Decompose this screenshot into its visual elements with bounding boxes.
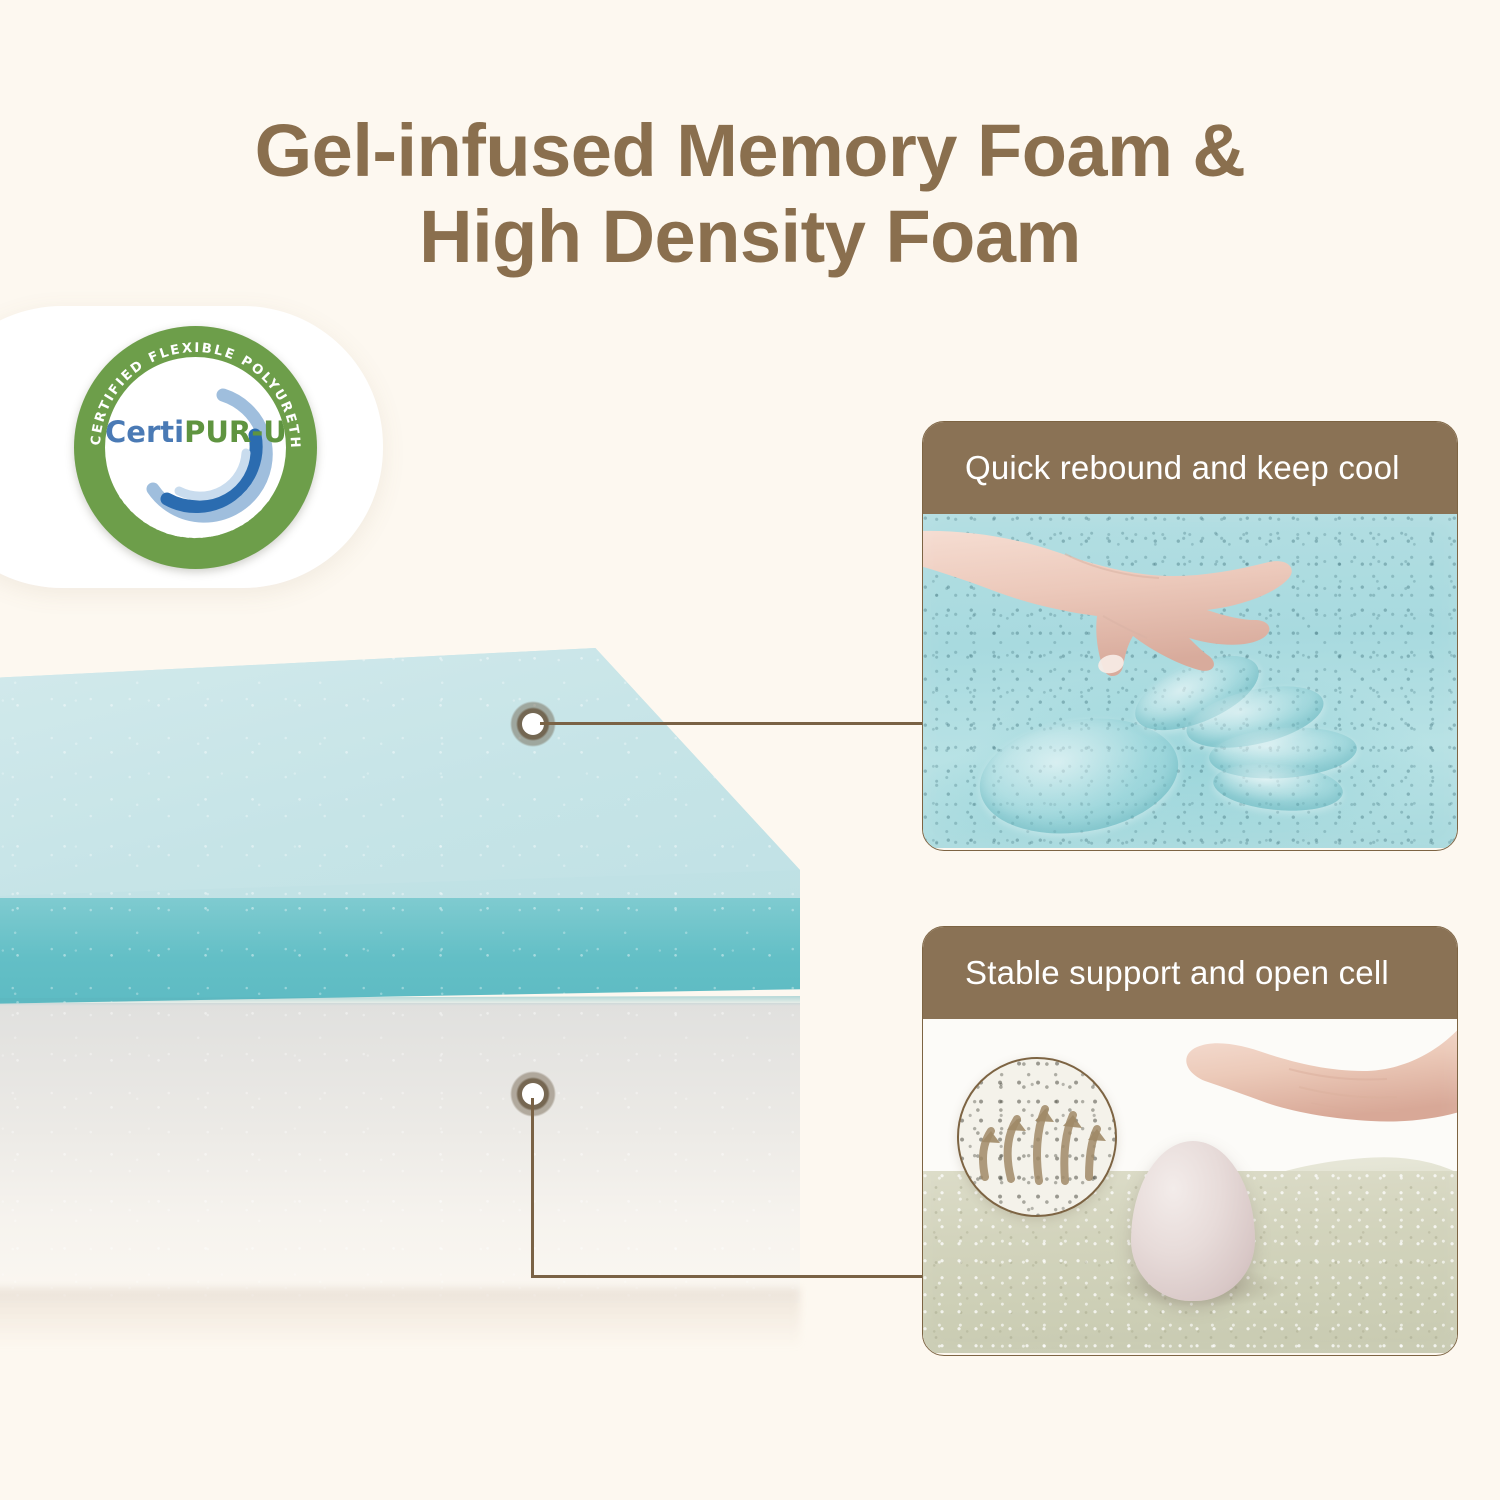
finger-illustration <box>1139 1019 1457 1163</box>
open-cell-airflow-inset <box>957 1057 1117 1217</box>
hand-illustration <box>923 520 1339 695</box>
connector-line-top <box>540 722 924 725</box>
callout-photo-gel-foam-handprint <box>923 514 1457 848</box>
high-density-foam-layer <box>0 1003 800 1303</box>
foam-product-illustration <box>0 648 830 1338</box>
foam-ground-shadow <box>0 1288 800 1348</box>
certipur-logo-part2: PUR-US <box>184 415 286 449</box>
callout-card-heading-quick-rebound: Quick rebound and keep cool <box>923 422 1457 514</box>
certipur-logo-text: CertiPUR-US® <box>105 415 286 449</box>
callout-photo-egg-on-foam <box>923 1019 1457 1353</box>
callout-card-stable-support[interactable]: Stable support and open cell <box>922 926 1458 1356</box>
certipur-badge-container: CONTAINS CERTIFIED FLEXIBLE POLYURETHANE… <box>0 306 383 588</box>
certipur-logo-part1: Certi <box>105 415 184 449</box>
connector-line-bottom-vertical <box>531 1098 534 1278</box>
connector-line-bottom-horizontal <box>531 1275 925 1278</box>
foam-base-grain <box>0 1003 800 1303</box>
page-title-line-2: High Density Foam <box>0 194 1500 280</box>
callout-card-heading-stable-support: Stable support and open cell <box>923 927 1457 1019</box>
infographic-canvas: Gel-infused Memory Foam & High Density F… <box>0 0 1500 1500</box>
page-title-line-1: Gel-infused Memory Foam & <box>0 108 1500 194</box>
page-title: Gel-infused Memory Foam & High Density F… <box>0 108 1500 280</box>
callout-card-quick-rebound[interactable]: Quick rebound and keep cool <box>922 421 1458 851</box>
airflow-arrows-icon <box>959 1059 1115 1215</box>
certipur-badge-inner: CertiPUR-US® <box>105 357 286 538</box>
certipur-us-badge: CONTAINS CERTIFIED FLEXIBLE POLYURETHANE… <box>74 326 317 569</box>
